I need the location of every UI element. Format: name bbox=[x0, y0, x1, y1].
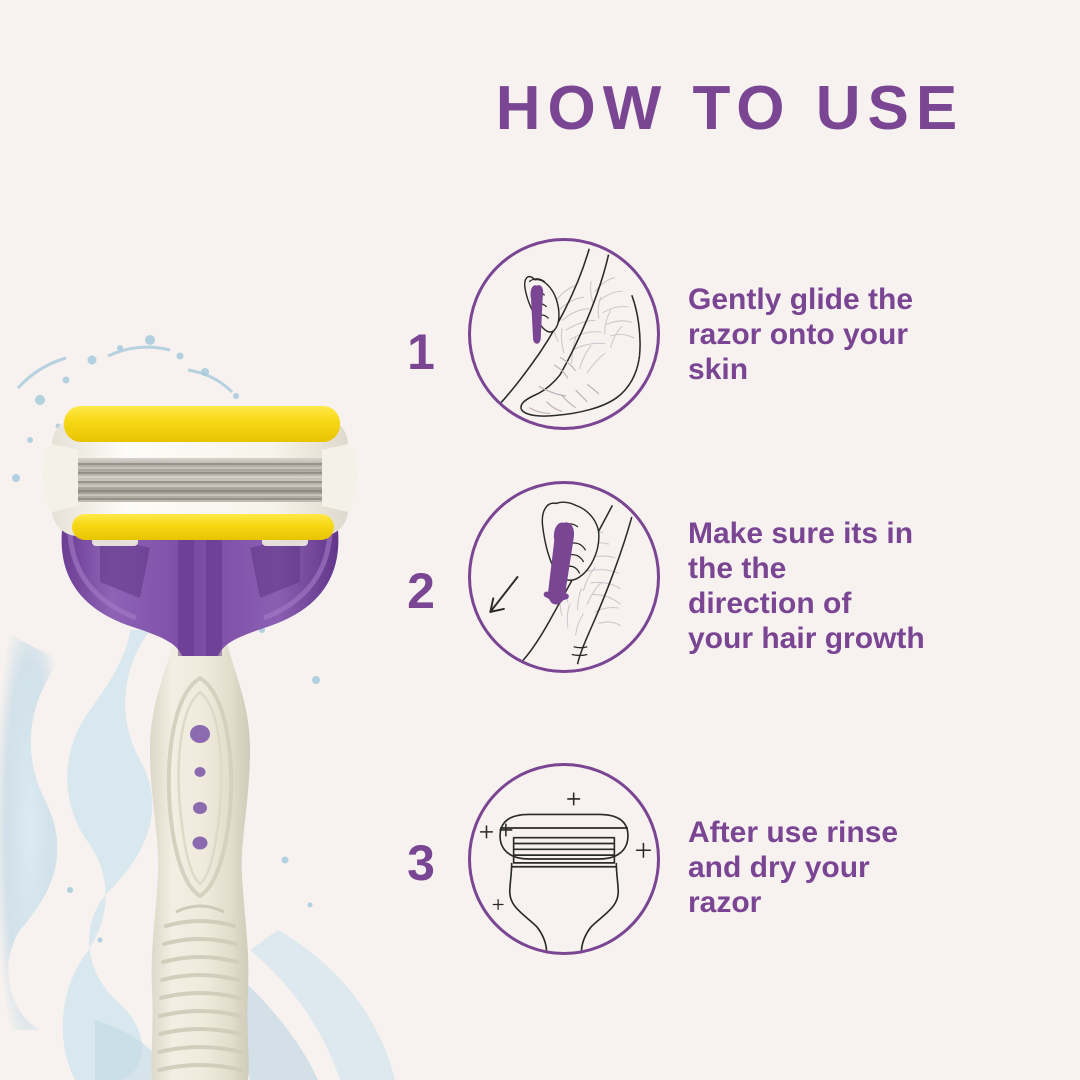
step-2-icon-circle bbox=[468, 481, 660, 673]
step-1-line-2: razor onto your bbox=[688, 317, 1028, 352]
step-2-number: 2 bbox=[390, 566, 452, 616]
step-1-line-1: Gently glide the bbox=[688, 282, 1028, 317]
step-3-number: 3 bbox=[390, 838, 452, 888]
step-1-line-3: skin bbox=[688, 352, 1028, 387]
step-2-line-4: your hair growth bbox=[688, 621, 1048, 656]
step-3-line-2: and dry your bbox=[688, 850, 1028, 885]
razor-cartridge bbox=[42, 406, 358, 540]
step-1-text: Gently glide the razor onto your skin bbox=[688, 282, 1028, 387]
shaving-leg-illustration bbox=[471, 241, 657, 427]
step-2-line-3: direction of bbox=[688, 586, 1048, 621]
step-1-number: 1 bbox=[390, 327, 452, 377]
step-1: 1 bbox=[390, 235, 1030, 445]
step-3-line-3: razor bbox=[688, 885, 1028, 920]
top-lubricant-strip bbox=[64, 406, 340, 442]
razor-direction-arrow-illustration bbox=[471, 484, 657, 670]
razor-head-sparkle-illustration bbox=[471, 766, 657, 952]
step-1-icon-circle bbox=[468, 238, 660, 430]
razor-product-image bbox=[0, 330, 400, 1080]
razor-yoke bbox=[62, 526, 339, 656]
infographic-canvas: HOW TO USE bbox=[0, 0, 1080, 1080]
step-3-line-1: After use rinse bbox=[688, 815, 1028, 850]
step-3-icon-circle bbox=[468, 763, 660, 955]
page-title: HOW TO USE bbox=[430, 78, 1030, 140]
razor-handle bbox=[150, 630, 250, 1080]
step-3: 3 bbox=[390, 760, 1030, 970]
razor-handle-icon bbox=[531, 285, 544, 344]
direction-arrow bbox=[490, 577, 517, 612]
step-3-text: After use rinse and dry your razor bbox=[688, 815, 1028, 920]
step-2-text: Make sure its in the the direction of yo… bbox=[688, 516, 1048, 656]
bottom-lubricant-strip bbox=[72, 514, 334, 540]
step-2-line-1: Make sure its in bbox=[688, 516, 1048, 551]
step-2-line-2: the the bbox=[688, 551, 1048, 586]
step-2: 2 bbox=[390, 478, 1030, 688]
